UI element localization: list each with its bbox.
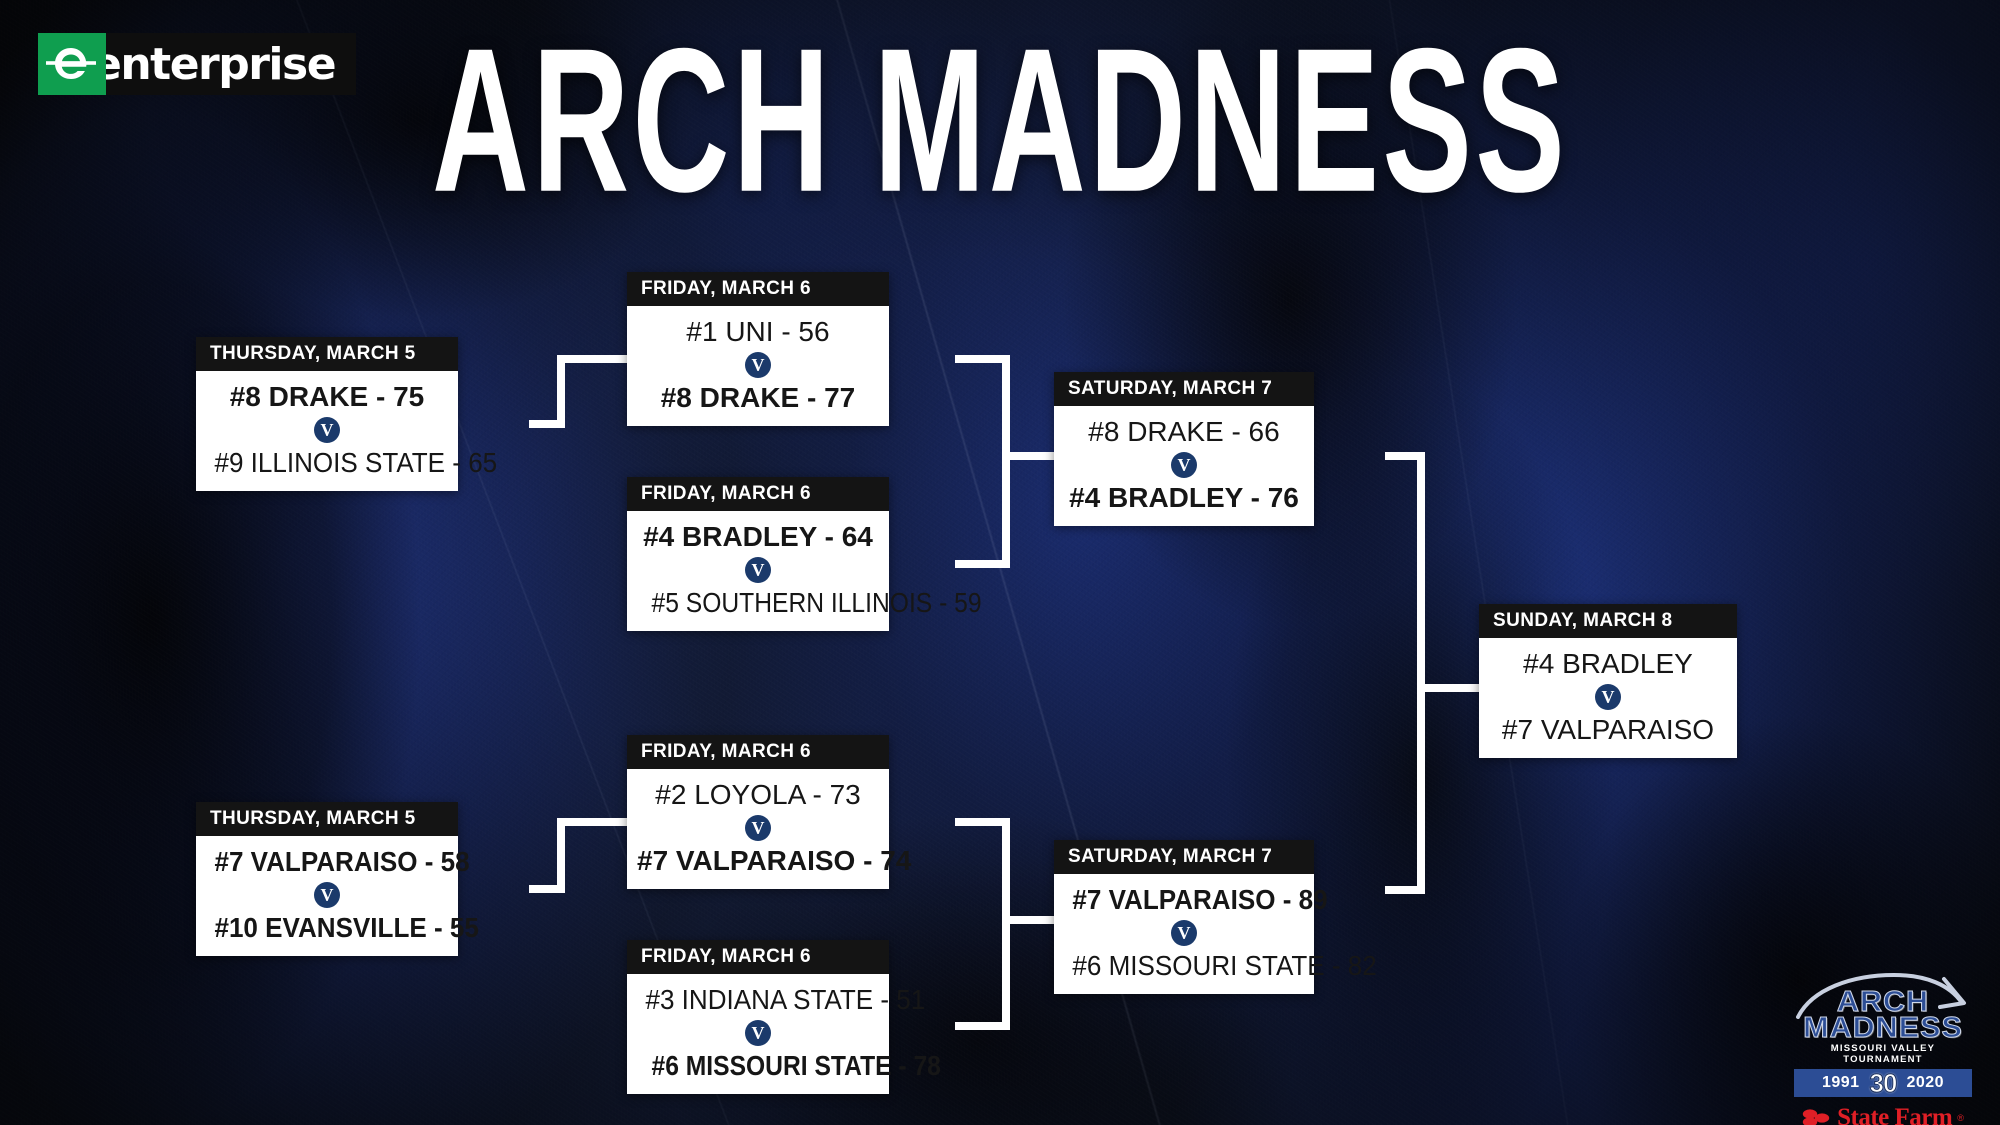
connector-r3-upper-in (1002, 452, 1054, 460)
connector-r2-upper1-in (557, 355, 627, 363)
game-body: #8 DRAKE - 75 V #9 ILLINOIS STATE - 65 (196, 371, 458, 491)
page-title: ARCH MADNESS (200, 20, 1800, 221)
state-farm-ovals-icon (1802, 1108, 1832, 1125)
game-date: FRIDAY, MARCH 6 (627, 272, 889, 306)
state-farm-logo[interactable]: State Farm ® (1794, 1104, 1972, 1125)
team-bottom: #6 MISSOURI STATE - 82 (1072, 948, 1295, 984)
connector-r1-lower-vert (557, 818, 565, 893)
connector-r3-lower-in (1002, 916, 1054, 924)
game-r2-lower-1[interactable]: FRIDAY, MARCH 6 #2 LOYOLA - 73 V #7 VALP… (627, 735, 889, 889)
team-bottom: #7 VALPARAISO - 74 (637, 843, 879, 879)
game-date: FRIDAY, MARCH 6 (627, 940, 889, 974)
game-date: FRIDAY, MARCH 6 (627, 735, 889, 769)
game-r3-upper[interactable]: SATURDAY, MARCH 7 #8 DRAKE - 66 V #4 BRA… (1054, 372, 1314, 526)
team-bottom: #8 DRAKE - 77 (637, 380, 879, 416)
team-top: #8 DRAKE - 75 (206, 379, 448, 415)
game-body: #7 VALPARAISO - 89 V #6 MISSOURI STATE -… (1054, 874, 1314, 994)
mvc-v-icon: V (1171, 920, 1197, 946)
team-bottom: #10 EVANSVILLE - 55 (214, 910, 439, 946)
game-championship[interactable]: SUNDAY, MARCH 8 #4 BRADLEY V #7 VALPARAI… (1479, 604, 1737, 758)
enterprise-e-icon (46, 40, 96, 88)
game-body: #2 LOYOLA - 73 V #7 VALPARAISO - 74 (627, 769, 889, 889)
connector-r3-lower-out (1385, 886, 1425, 894)
state-farm-wordmark: State Farm (1837, 1104, 1952, 1125)
team-bottom: #4 BRADLEY - 76 (1064, 480, 1304, 516)
connector-r2-lower1-in (557, 818, 627, 826)
mvc-v-icon: V (745, 557, 771, 583)
game-date: FRIDAY, MARCH 6 (627, 477, 889, 511)
game-body: #4 BRADLEY - 64 V #5 SOUTHERN ILLINOIS -… (627, 511, 889, 631)
team-bottom: #7 VALPARAISO (1489, 712, 1727, 748)
game-body: #3 INDIANA STATE - 51 V #6 MISSOURI STAT… (627, 974, 889, 1094)
game-r1-upper[interactable]: THURSDAY, MARCH 5 #8 DRAKE - 75 V #9 ILL… (196, 337, 458, 491)
team-bottom: #5 SOUTHERN ILLINOIS - 59 (652, 585, 865, 621)
mvc-v-icon: V (314, 417, 340, 443)
game-date: SUNDAY, MARCH 8 (1479, 604, 1737, 638)
logo-subtitle: MISSOURI VALLEY TOURNAMENT (1794, 1043, 1972, 1065)
team-top: #2 LOYOLA - 73 (637, 777, 879, 813)
mvc-v-icon: V (745, 1020, 771, 1046)
game-r1-lower[interactable]: THURSDAY, MARCH 5 #7 VALPARAISO - 58 V #… (196, 802, 458, 956)
game-r2-upper-1[interactable]: FRIDAY, MARCH 6 #1 UNI - 56 V #8 DRAKE -… (627, 272, 889, 426)
connector-final-vert (1417, 452, 1425, 894)
mvc-v-icon: V (745, 352, 771, 378)
team-top: #4 BRADLEY - 64 (637, 519, 879, 555)
team-top: #3 INDIANA STATE - 51 (645, 982, 870, 1018)
year-end: 2020 (1906, 1074, 1944, 1092)
game-body: #1 UNI - 56 V #8 DRAKE - 77 (627, 306, 889, 426)
team-bottom: #9 ILLINOIS STATE - 65 (214, 445, 439, 481)
registered-mark: ® (1957, 1113, 1964, 1123)
mvc-v-icon: V (1595, 684, 1621, 710)
game-r2-upper-2[interactable]: FRIDAY, MARCH 6 #4 BRADLEY - 64 V #5 SOU… (627, 477, 889, 631)
arch-madness-logo: ARCH MADNESS MISSOURI VALLEY TOURNAMENT … (1794, 973, 1972, 1107)
team-top: #1 UNI - 56 (637, 314, 879, 350)
mvc-v-icon: V (314, 882, 340, 908)
game-body: #8 DRAKE - 66 V #4 BRADLEY - 76 (1054, 406, 1314, 526)
team-bottom: #6 MISSOURI STATE - 78 (652, 1048, 865, 1084)
connector-r2-upper-vert (1002, 355, 1010, 568)
bracket-stage: enterprise ARCH MADNESS THURSDAY, MARCH … (0, 0, 2000, 1125)
game-date: THURSDAY, MARCH 5 (196, 337, 458, 371)
team-top: #7 VALPARAISO - 58 (214, 844, 439, 880)
connector-r1-upper-vert (557, 355, 565, 428)
anniversary-bar: 1991 30 2020 (1794, 1069, 1972, 1097)
connector-final-in (1417, 684, 1479, 692)
mvc-v-icon: V (1171, 452, 1197, 478)
game-r3-lower[interactable]: SATURDAY, MARCH 7 #7 VALPARAISO - 89 V #… (1054, 840, 1314, 994)
team-top: #7 VALPARAISO - 89 (1072, 882, 1295, 918)
game-date: SATURDAY, MARCH 7 (1054, 372, 1314, 406)
game-body: #4 BRADLEY V #7 VALPARAISO (1479, 638, 1737, 758)
mvc-v-icon: V (745, 815, 771, 841)
game-r2-lower-2[interactable]: FRIDAY, MARCH 6 #3 INDIANA STATE - 51 V … (627, 940, 889, 1094)
game-date: THURSDAY, MARCH 5 (196, 802, 458, 836)
year-start: 1991 (1822, 1074, 1860, 1092)
game-date: SATURDAY, MARCH 7 (1054, 840, 1314, 874)
enterprise-green-block (38, 33, 106, 95)
team-top: #4 BRADLEY (1489, 646, 1727, 682)
logo-madness-text: MADNESS (1790, 1015, 1977, 1042)
team-top: #8 DRAKE - 66 (1064, 414, 1304, 450)
game-body: #7 VALPARAISO - 58 V #10 EVANSVILLE - 55 (196, 836, 458, 956)
connector-r2-lower-vert (1002, 818, 1010, 1030)
anniversary-mark: 30 (1870, 1068, 1897, 1099)
